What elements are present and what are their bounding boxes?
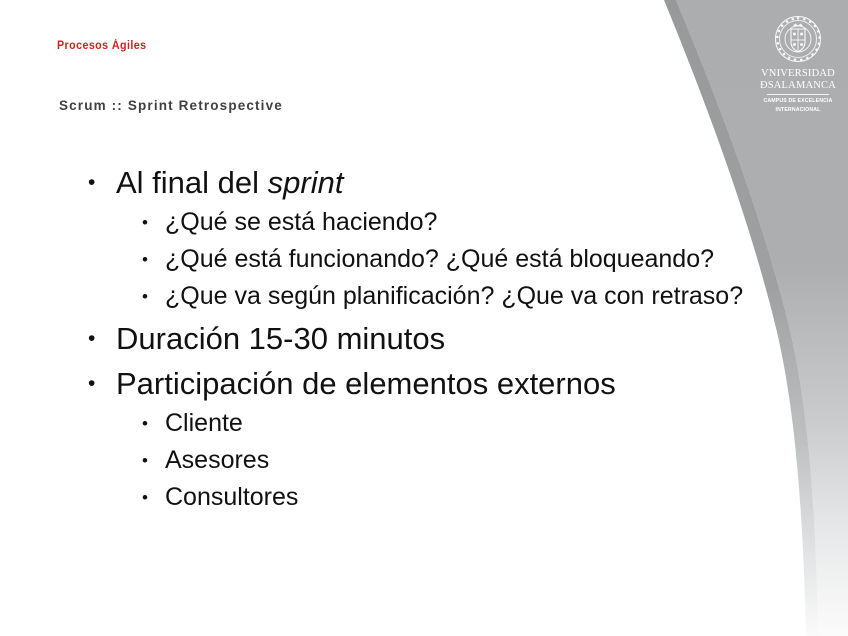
bullet-glyph: • [142, 480, 165, 515]
logo-name-line-1: VNIVERSIDAD [752, 68, 844, 80]
bullet-text: ¿Qué se está haciendo? [165, 205, 755, 240]
bullet-text-run: Al final del [116, 165, 268, 200]
bullet-text: ¿Que va según planificación? ¿Que va con… [165, 279, 755, 314]
bullet-text: Al final del sprint [116, 160, 756, 205]
logo-divider [767, 94, 829, 95]
bullet-glyph: • [142, 406, 165, 441]
bullet-item: • Consultores [142, 480, 788, 515]
bullet-item: • Participación de elementos externos [88, 361, 788, 406]
logo-tagline-line-1: CAMPUS DE EXCELENCIA [752, 98, 844, 104]
bullet-item: • ¿Qué se está haciendo? [142, 205, 788, 240]
bullet-glyph: • [88, 316, 116, 361]
bullet-item: • Duración 15-30 minutos [88, 316, 788, 361]
bullet-text: Duración 15-30 minutos [116, 316, 756, 361]
bullet-glyph: • [142, 443, 165, 478]
bullet-text: ¿Qué está funcionando? ¿Qué está bloquea… [165, 242, 755, 277]
course-label: Procesos Ágiles [57, 40, 146, 52]
bullet-text-emphasis: sprint [268, 165, 344, 200]
university-logo: VNIVERSIDAD ÐSALAMANCA CAMPUS DE EXCELEN… [752, 14, 844, 114]
bullet-item: • ¿Que va según planificación? ¿Que va c… [142, 279, 788, 314]
university-seal-icon [773, 14, 823, 64]
bullet-item: • Al final del sprint [88, 160, 788, 205]
slide-body: • Al final del sprint • ¿Qué se está hac… [88, 160, 788, 517]
bullet-text: Consultores [165, 480, 755, 515]
bullet-glyph: • [88, 361, 116, 406]
bullet-glyph: • [142, 205, 165, 240]
bullet-text: Asesores [165, 443, 755, 478]
logo-name-line-2: ÐSALAMANCA [752, 80, 844, 92]
bullet-item: • Cliente [142, 406, 788, 441]
bullet-text: Participación de elementos externos [116, 361, 756, 406]
bullet-glyph: • [142, 279, 165, 314]
slide-title: Scrum :: Sprint Retrospective [59, 98, 283, 113]
bullet-glyph: • [88, 160, 116, 205]
bullet-text: Cliente [165, 406, 755, 441]
slide-canvas: VNIVERSIDAD ÐSALAMANCA CAMPUS DE EXCELEN… [0, 0, 848, 636]
bullet-item: • ¿Qué está funcionando? ¿Qué está bloqu… [142, 242, 788, 277]
bullet-item: • Asesores [142, 443, 788, 478]
logo-tagline-line-2: INTERNACIONAL [752, 107, 844, 113]
bullet-glyph: • [142, 242, 165, 277]
